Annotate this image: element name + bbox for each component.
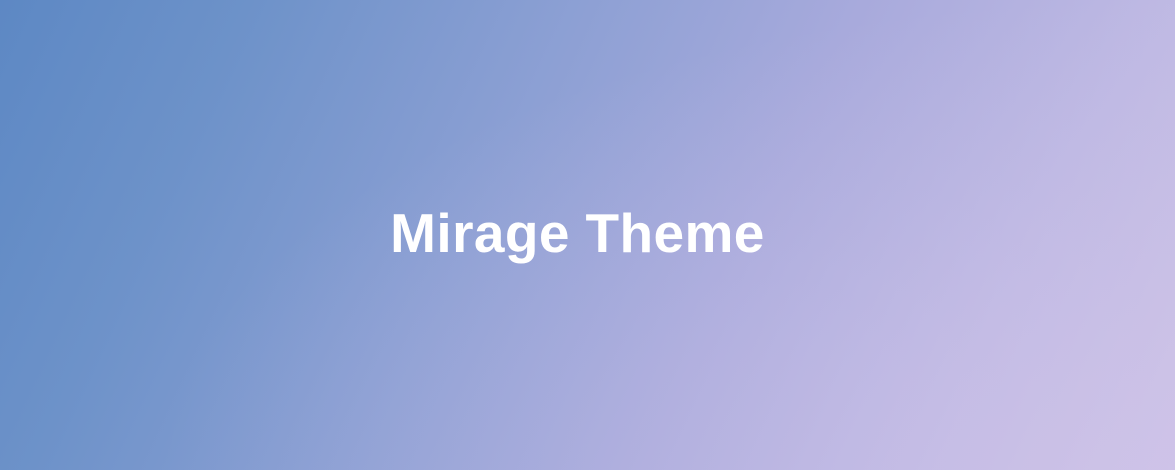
- hero-banner: Mirage Theme: [0, 0, 1175, 470]
- page-title: Mirage Theme: [390, 205, 765, 263]
